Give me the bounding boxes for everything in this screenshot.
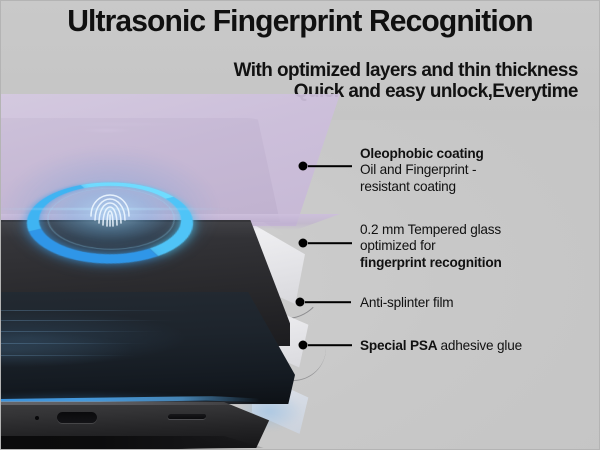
callout-text-special-psa: Special PSA adhesive glue (360, 338, 522, 354)
speaker-slot-icon (167, 414, 206, 419)
ultrasonic-wave-glow (0, 294, 260, 390)
callout-line-anti-splinter-film (305, 301, 351, 303)
callout-segment: 0.2 mm Tempered glass (360, 222, 502, 238)
callout-text-oleophobic-coating: Oleophobic coatingOil and Fingerprint -r… (360, 146, 484, 195)
callout-segment: fingerprint recognition (360, 255, 502, 271)
callout-segment: adhesive glue (440, 338, 522, 353)
fingerprint-icon (85, 190, 135, 230)
callout-text-anti-splinter-film: Anti-splinter film (360, 295, 453, 311)
microphone-hole-icon (35, 416, 39, 420)
callout-segment: Anti-splinter film (360, 295, 453, 311)
callout-segment: Oleophobic coating (360, 146, 484, 162)
callout-dot-oleophobic-coating (299, 162, 308, 171)
fingerprint-sensor (26, 164, 194, 260)
callout-text-tempered-glass: 0.2 mm Tempered glassoptimized forfinger… (360, 222, 502, 271)
product-infographic: Ultrasonic Fingerprint Recognition With … (0, 0, 600, 450)
callout-segment: optimized for (360, 238, 502, 254)
page-title: Ultrasonic Fingerprint Recognition (5, 4, 596, 38)
callout-dot-tempered-glass (299, 239, 308, 248)
subtitle-line-1: With optimized layers and thin thickness (234, 60, 578, 82)
device-illustration (0, 96, 340, 450)
callout-dot-anti-splinter-film (296, 298, 305, 307)
callout-segment: Oil and Fingerprint - (360, 162, 484, 178)
callout-segment: resistant coating (360, 179, 484, 195)
callout-dot-special-psa (299, 341, 308, 350)
callout-line-tempered-glass (308, 242, 352, 244)
callout-line-special-psa (308, 344, 352, 346)
usb-c-port-icon (57, 412, 97, 423)
callout-line-oleophobic-coating (308, 165, 352, 167)
callout-segment: Special PSA (360, 338, 440, 353)
